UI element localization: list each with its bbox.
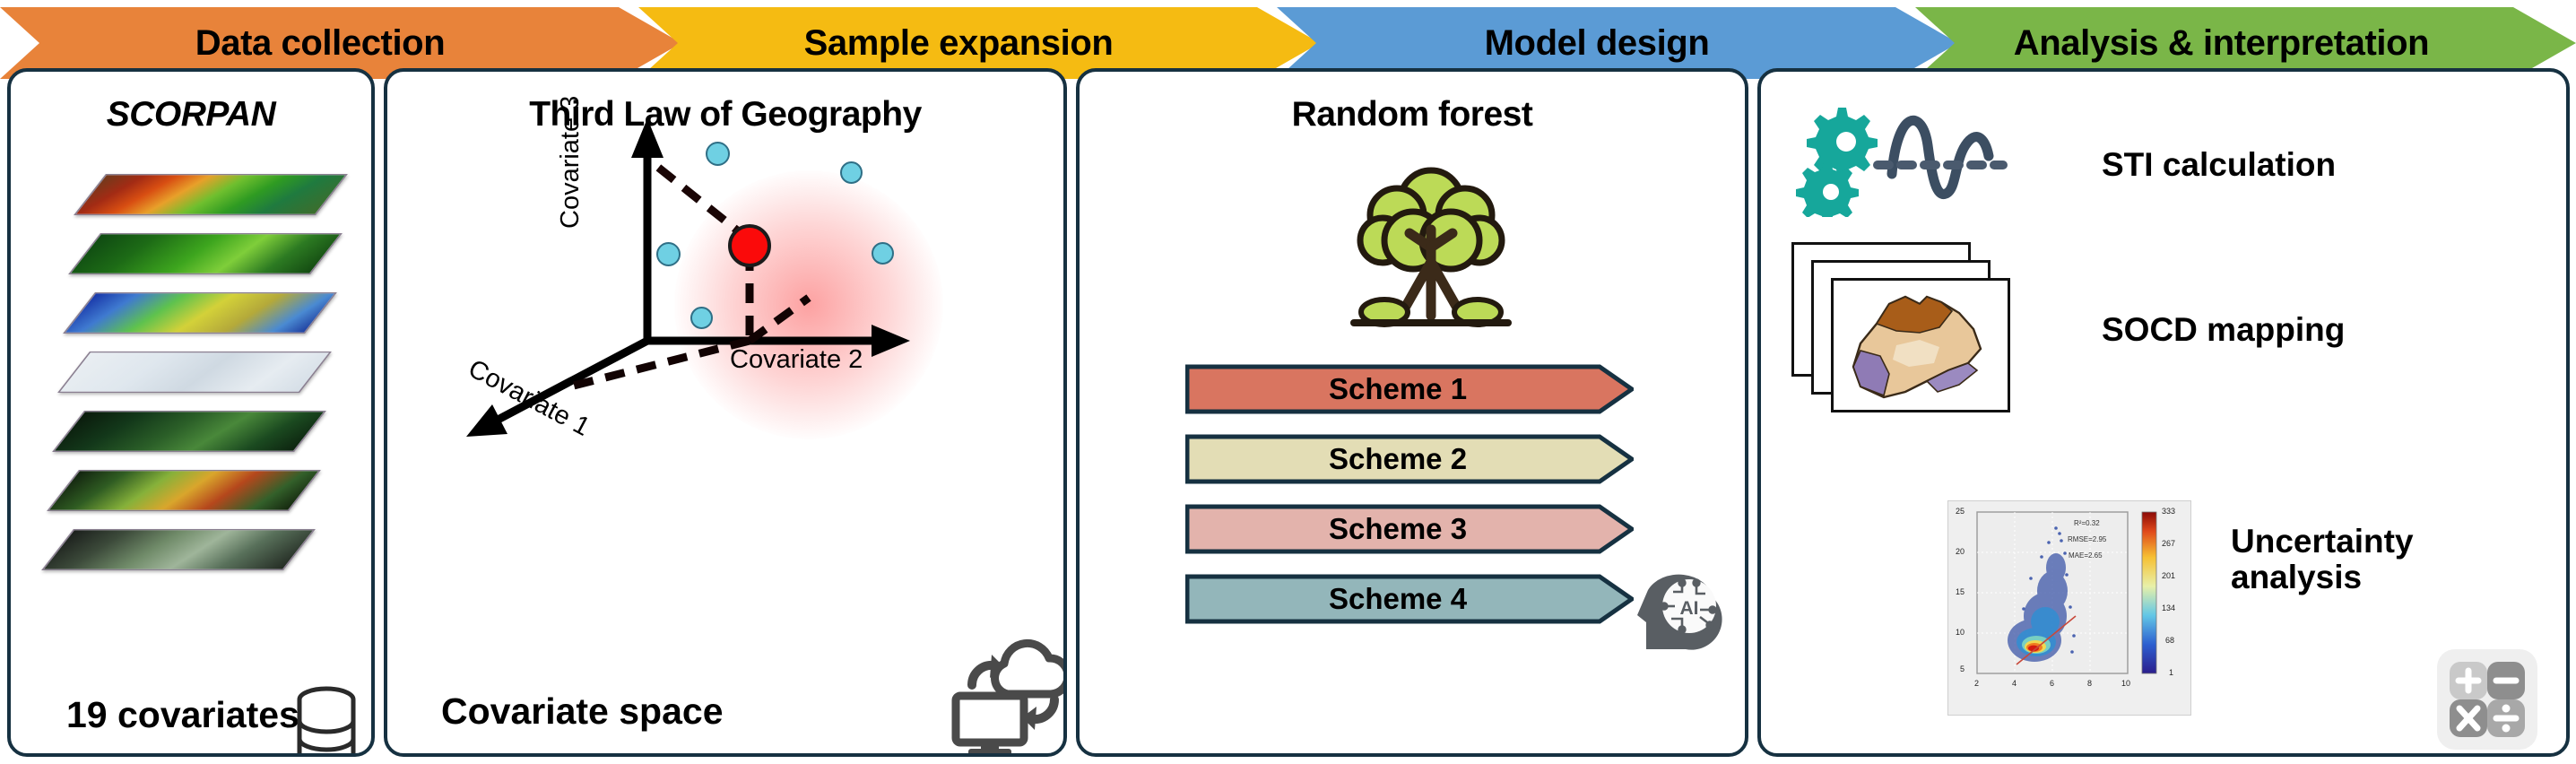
stage-arrow-data-collection: Data collection <box>0 7 681 79</box>
axis-label-covariate-3: Covariate 3 <box>556 96 585 229</box>
colorbar-tick: 201 <box>2162 571 2175 580</box>
y-tick: 15 <box>1956 587 1965 596</box>
svg-text:AI: AI <box>1680 598 1699 619</box>
y-tick: 25 <box>1956 507 1965 516</box>
raster-layer <box>63 292 337 334</box>
calculator-icon <box>2433 646 2541 757</box>
colorbar-tick: 68 <box>2165 636 2174 645</box>
target-sample-point <box>728 224 771 267</box>
scheme-chevron-4[interactable]: Scheme 4 <box>1185 574 1634 624</box>
raster-layer-stack <box>54 161 341 610</box>
y-tick: 20 <box>1956 547 1965 556</box>
x-tick: 8 <box>2087 679 2092 688</box>
scheme-label: Scheme 1 <box>1329 372 1490 406</box>
tree-icon <box>1341 158 1521 342</box>
sample-point <box>872 242 894 265</box>
raster-layer <box>74 174 348 215</box>
panel-sample-expansion: Third Law of Geography Covariate 3 Covar… <box>384 68 1067 757</box>
ai-brain-icon: AI <box>1630 563 1729 666</box>
raster-layer <box>57 352 332 393</box>
scheme-chevron-2[interactable]: Scheme 2 <box>1185 434 1634 484</box>
sample-point <box>840 161 863 184</box>
row-label-sti-calculation: STI calculation <box>2102 147 2336 183</box>
stat-r2: R²=0.32 <box>2074 519 2100 527</box>
y-tick: 10 <box>1956 628 1965 637</box>
cloud-computer-sync-icon <box>941 619 1067 757</box>
scheme-chevron-1[interactable]: Scheme 1 <box>1185 364 1634 414</box>
stage-label: Model design <box>1277 7 1958 79</box>
x-tick: 6 <box>2050 679 2054 688</box>
raster-layer <box>41 529 316 570</box>
panel-title-random-forest: Random forest <box>1080 95 1745 135</box>
stage-label: Data collection <box>0 7 681 79</box>
x-tick: 10 <box>2121 679 2130 688</box>
x-tick: 2 <box>1974 679 1979 688</box>
sample-point <box>656 242 681 266</box>
panel-title-scorpan: SCORPAN <box>11 95 371 135</box>
scheme-chevron-3[interactable]: Scheme 3 <box>1185 504 1634 554</box>
raster-layer <box>68 233 343 274</box>
colorbar-tick: 1 <box>2169 668 2173 677</box>
uncertainty-scatter-plot: 25 20 15 10 5 2 4 6 8 10 333 267 201 134… <box>1947 500 2191 716</box>
row-label-uncertainty-analysis: Uncertainty analysis <box>2231 524 2414 595</box>
colorbar-tick: 267 <box>2162 539 2175 548</box>
map-stack-icon <box>1791 242 2069 421</box>
panel-analysis-interpretation: STI calculation SOCD mapping <box>1757 68 2570 757</box>
x-tick: 4 <box>2012 679 2017 688</box>
stage-label: Analysis & interpretation <box>1915 7 2576 79</box>
database-icon <box>294 685 359 757</box>
colorbar-tick: 333 <box>2162 507 2175 516</box>
stage-arrow-analysis-interpretation: Analysis & interpretation <box>1915 7 2576 79</box>
axis-label-covariate-2: Covariate 2 <box>730 345 863 375</box>
stage-label: Sample expansion <box>638 7 1320 79</box>
raster-layer <box>47 470 321 511</box>
stage-arrow-sample-expansion: Sample expansion <box>638 7 1320 79</box>
colorbar-tick: 134 <box>2162 603 2175 612</box>
caption-covariate-space: Covariate space <box>441 690 724 733</box>
scheme-label: Scheme 4 <box>1329 582 1490 616</box>
panel-model-design: Random forest <box>1076 68 1748 757</box>
raster-layer <box>52 411 326 452</box>
scheme-label: Scheme 3 <box>1329 512 1490 546</box>
stage-arrow-model-design: Model design <box>1277 7 1958 79</box>
map-card <box>1831 278 2010 412</box>
gears-signal-icon <box>1791 91 2087 221</box>
y-tick: 5 <box>1960 664 1965 673</box>
scheme-label: Scheme 2 <box>1329 442 1490 476</box>
stat-mae: MAE=2.65 <box>2069 551 2103 560</box>
stat-rmse: RMSE=2.95 <box>2068 535 2106 543</box>
panel-data-collection: SCORPAN 19 covariates <box>7 68 375 757</box>
caption-19-covariates: 19 covariates <box>66 694 299 736</box>
sample-point <box>690 307 713 329</box>
row-label-socd-mapping: SOCD mapping <box>2102 312 2345 348</box>
sample-point <box>706 142 730 166</box>
